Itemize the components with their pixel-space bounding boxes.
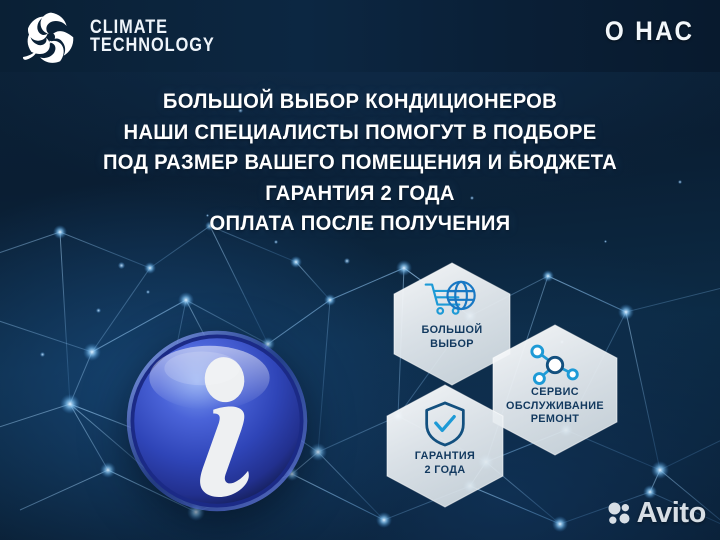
promo-banner: CLIMATE TECHNOLOGY О НАС БОЛЬШОЙ ВЫБОР К… [0, 0, 720, 540]
feature-hex-warranty[interactable]: ГАРАНТИЯ 2 ГОДА [386, 384, 504, 508]
headline-line-4: ГАРАНТИЯ 2 ГОДА [22, 178, 699, 209]
avito-dots-icon [607, 501, 632, 526]
background-network-graphic [0, 0, 720, 540]
brand-line-2: TECHNOLOGY [90, 37, 215, 55]
brand-logo[interactable]: CLIMATE TECHNOLOGY [22, 8, 235, 66]
shopping-cart-globe-icon [423, 278, 481, 322]
feature-label-warranty: ГАРАНТИЯ 2 ГОДА [389, 450, 501, 477]
swirl-fan-logo-icon [22, 8, 80, 66]
page-title: О НАС [605, 16, 694, 47]
feature-label-service: СЕРВИС ОБСЛУЖИВАНИЕ РЕМОНТ [495, 386, 615, 427]
headline-line-5: ОПЛАТА ПОСЛЕ ПОЛУЧЕНИЯ [22, 208, 699, 239]
headline-line-3: ПОД РАЗМЕР ВАШЕГО ПОМЕЩЕНИЯ И БЮДЖЕТА [22, 147, 699, 178]
avito-wordmark: Avito [637, 497, 706, 530]
headline-line-1: БОЛЬШОЙ ВЫБОР КОНДИЦИОНЕРОВ [22, 86, 699, 117]
headline-line-2: НАШИ СПЕЦИАЛИСТЫ ПОМОГУТ В ПОДБОРЕ [22, 117, 699, 148]
info-sphere-icon [123, 327, 311, 515]
feature-hex-service[interactable]: СЕРВИС ОБСЛУЖИВАНИЕ РЕМОНТ [492, 324, 618, 456]
shield-check-icon [423, 400, 467, 448]
network-nodes-icon [522, 340, 588, 390]
headline-block: БОЛЬШОЙ ВЫБОР КОНДИЦИОНЕРОВ НАШИ СПЕЦИАЛ… [0, 86, 720, 239]
avito-watermark: Avito [607, 497, 706, 530]
